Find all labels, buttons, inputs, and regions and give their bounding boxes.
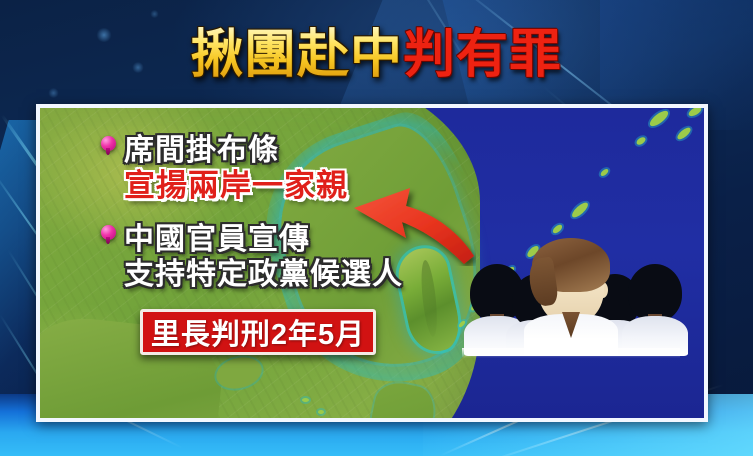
map-pin-icon: [101, 136, 116, 151]
map-pin-icon: [101, 225, 116, 240]
small-island: [318, 410, 324, 414]
silhouette-figure: [620, 264, 690, 356]
lead-figure: [522, 238, 620, 356]
sentence-banner: 里長判刑2年5月: [140, 309, 376, 355]
bullet-1-line-2: 宣揚兩岸一家親: [124, 160, 348, 205]
background-light-spot: [150, 10, 159, 18]
headline: 揪團赴中判有罪: [0, 24, 753, 86]
headline-gold-part: 揪團赴中: [191, 26, 403, 84]
small-island: [302, 398, 309, 402]
broadcast-graphic: 揪團赴中判有罪: [0, 0, 753, 456]
sentence-banner-text: 里長判刑2年5月: [151, 311, 365, 353]
background-light-spot: [48, 88, 59, 98]
people-base-fade: [462, 348, 680, 358]
headline-red-part: 判有罪: [403, 26, 562, 84]
red-curved-arrow-icon: [336, 186, 476, 266]
group-of-people-illustration: [462, 236, 680, 356]
